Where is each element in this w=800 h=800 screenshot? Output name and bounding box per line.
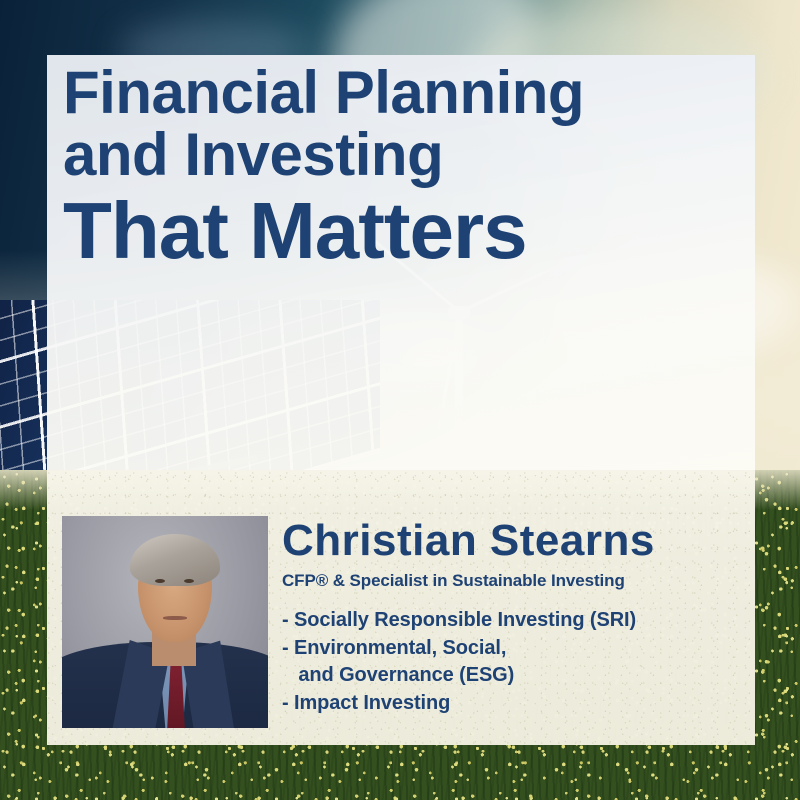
headline-line-1: Financial Planning — [63, 62, 753, 124]
poster-canvas: Financial Planning and Investing That Ma… — [0, 0, 800, 800]
presenter-credential: CFP® & Specialist in Sustainable Investi… — [282, 571, 752, 591]
list-item: - Environmental, Social, — [282, 635, 752, 663]
presenter-name: Christian Stearns — [282, 519, 752, 563]
avatar — [62, 516, 268, 728]
presenter-info: Christian Stearns CFP® & Specialist in S… — [282, 519, 752, 717]
page-title: Financial Planning and Investing That Ma… — [63, 62, 753, 272]
list-item: - Impact Investing — [282, 690, 752, 718]
list-item: and Governance (ESG) — [282, 662, 752, 690]
portrait-mouth — [163, 616, 187, 620]
headline-line-3: That Matters — [63, 190, 753, 272]
headline-line-2: and Investing — [63, 124, 753, 186]
portrait-eye-left — [155, 579, 165, 583]
portrait-eye-right — [184, 579, 194, 583]
list-item: - Socially Responsible Investing (SRI) — [282, 607, 752, 635]
services-list: - Socially Responsible Investing (SRI) -… — [282, 607, 752, 717]
